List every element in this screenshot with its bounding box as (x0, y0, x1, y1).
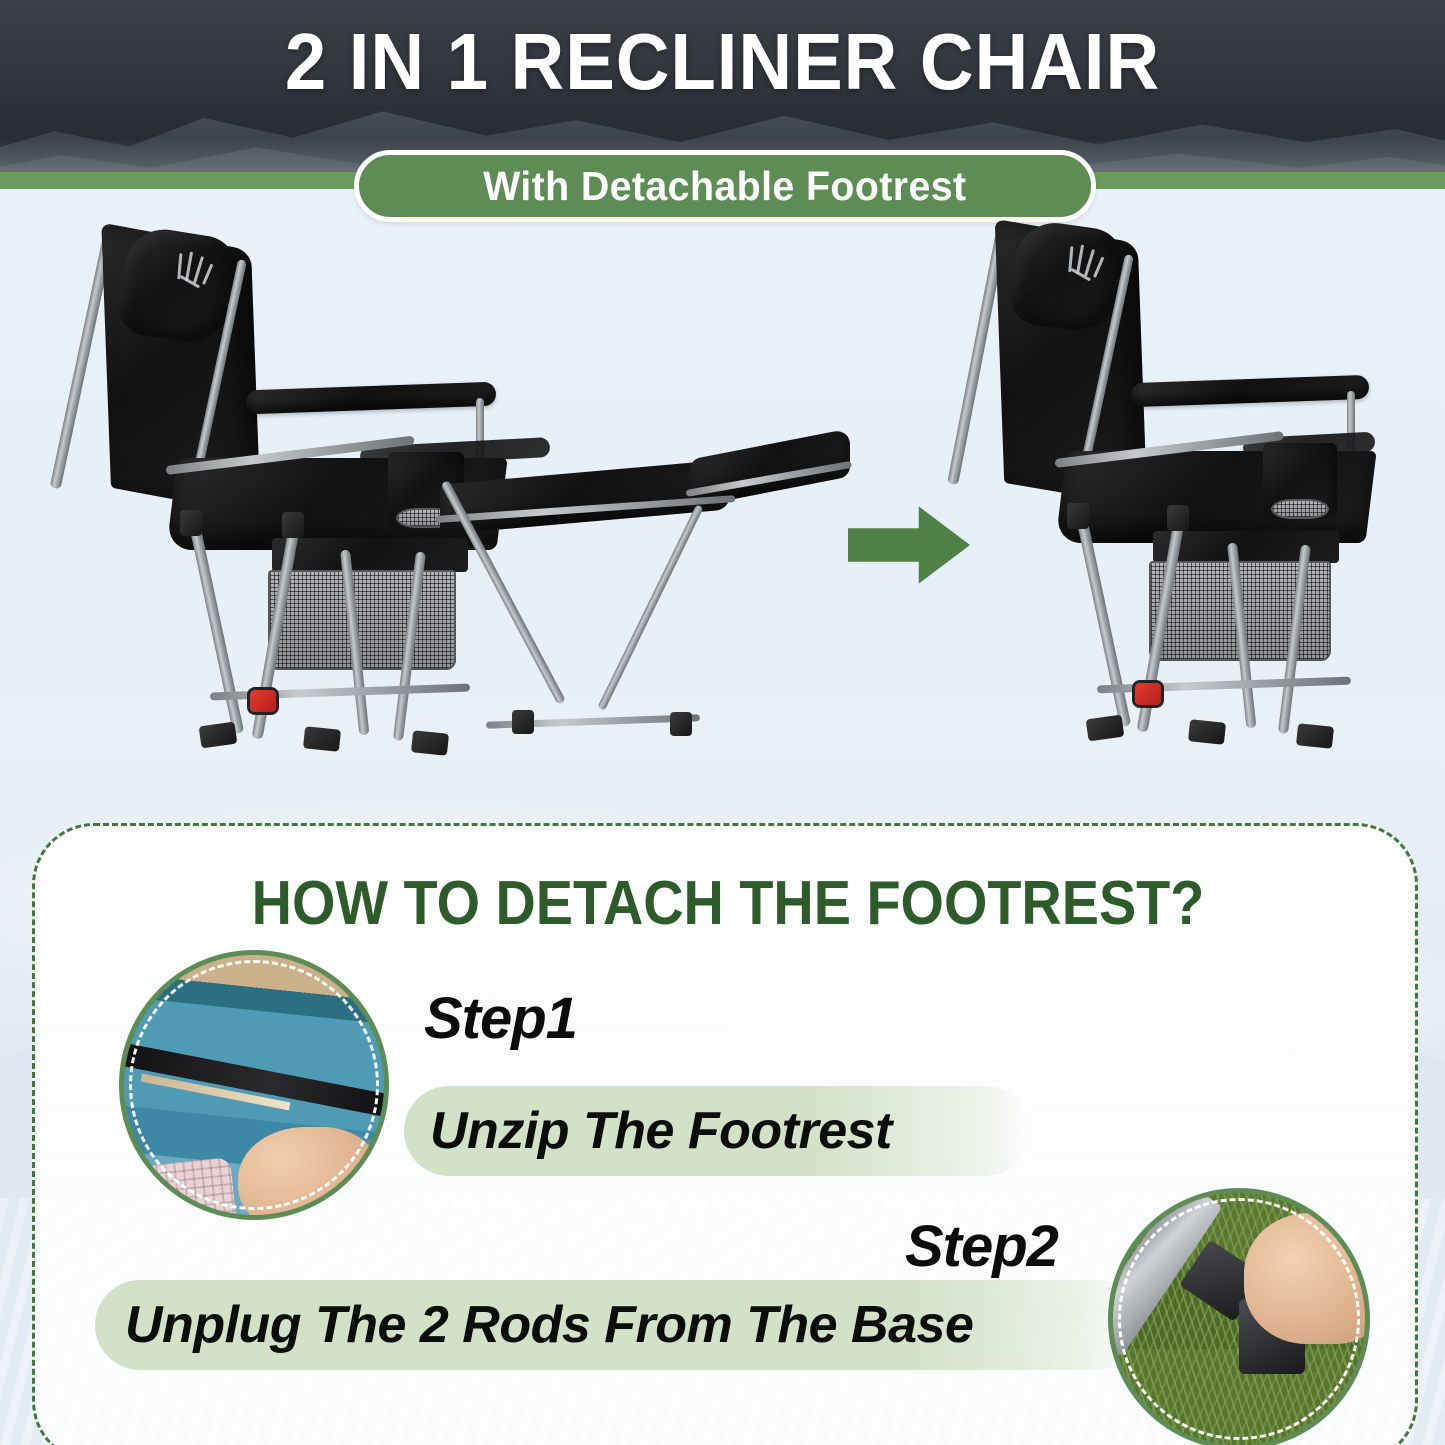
chair-without-footrest (975, 215, 1375, 775)
cup-holder-mesh-bottom (1271, 499, 1329, 519)
instructions-heading: HOW TO DETACH THE FOOTREST? (104, 868, 1351, 939)
step2-text: Unplug The 2 Rods From The Base (95, 1295, 973, 1355)
chair-front-leg (1075, 512, 1131, 728)
step1-photo (119, 950, 389, 1220)
step1-text: Unzip The Footrest (404, 1101, 892, 1161)
chair-release-lever (1135, 683, 1161, 705)
arrow-right-icon (848, 503, 970, 587)
chair-foot (199, 722, 238, 749)
infographic-page: 2 IN 1 RECLINER CHAIR With Detachable Fo… (0, 0, 1445, 1445)
chair-front-leg (188, 519, 244, 735)
chair-foot (1188, 719, 1226, 745)
chair-with-footrest (60, 220, 850, 780)
chair-storage-pocket (268, 570, 456, 670)
chair-armrest (246, 382, 497, 415)
hand (1244, 1213, 1370, 1344)
chair-foot (1296, 723, 1334, 749)
step1-label: Step1 (424, 985, 577, 1052)
step2-label: Step2 (905, 1213, 1058, 1280)
product-showcase (0, 185, 1445, 825)
chair-foot (411, 730, 449, 756)
chair-footrest (440, 438, 840, 558)
plaid-sleeve (119, 1157, 237, 1220)
step2-photo (1108, 1188, 1370, 1445)
page-title: 2 IN 1 RECLINER CHAIR (51, 20, 1395, 104)
step1-text-band: Unzip The Footrest (404, 1086, 1030, 1176)
chair-foot (303, 726, 341, 752)
chair-release-lever (250, 690, 276, 712)
hand (238, 1127, 378, 1220)
chair-armrest (1131, 375, 1370, 407)
chair-foot (1086, 715, 1125, 742)
step2-text-band: Unplug The 2 Rods From The Base (95, 1280, 1140, 1370)
